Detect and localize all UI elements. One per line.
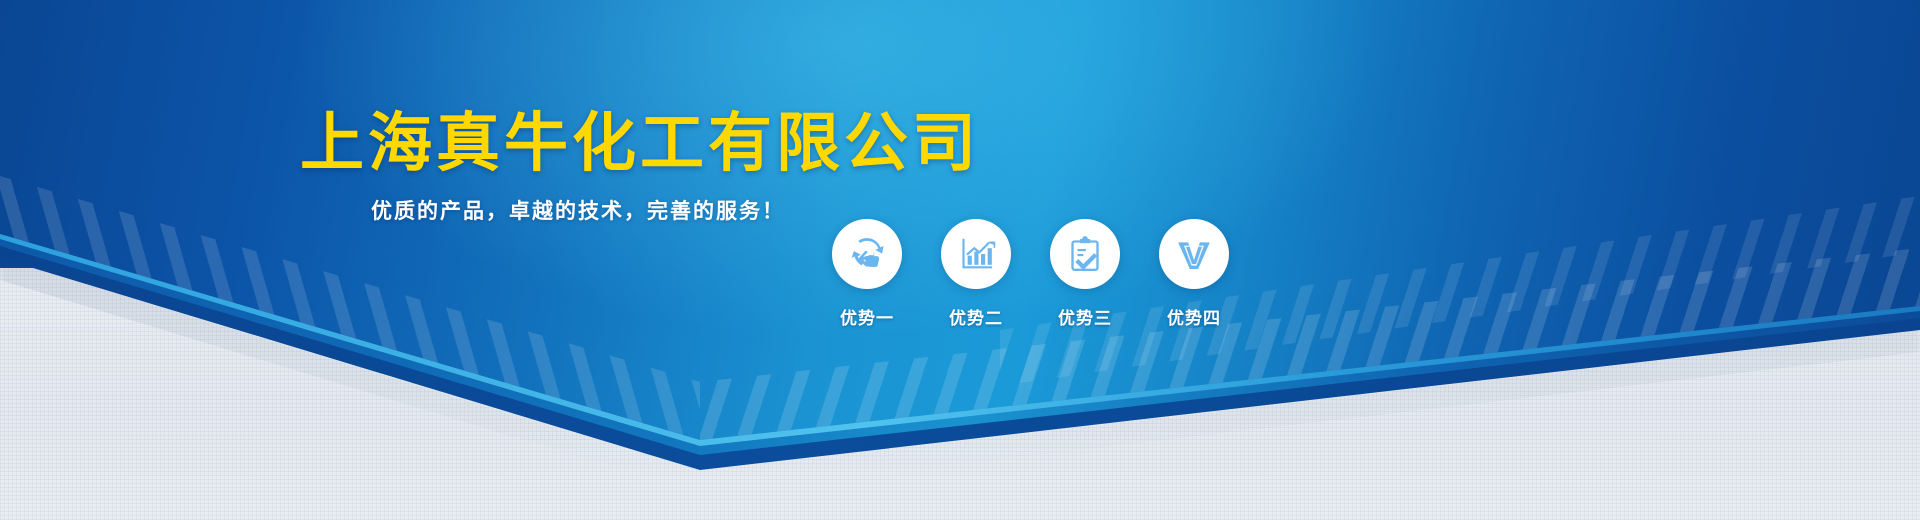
feature-label-2: 优势二: [949, 304, 1003, 329]
refresh-thumbs-up-icon: [847, 234, 887, 274]
letter-v-icon: [1174, 234, 1214, 274]
feature-icon-circle-2[interactable]: [941, 219, 1011, 289]
feature-list: 优势一: [832, 219, 1229, 329]
feature-label-3: 优势三: [1058, 304, 1112, 329]
company-slogan: 优质的产品，卓越的技术，完善的服务！: [371, 195, 785, 225]
feature-item-4[interactable]: 优势四: [1159, 219, 1229, 329]
feature-label-1: 优势一: [840, 304, 894, 329]
feature-icon-circle-1[interactable]: [832, 219, 902, 289]
feature-item-3[interactable]: 优势三: [1050, 219, 1120, 329]
feature-icon-circle-4[interactable]: [1159, 219, 1229, 289]
company-title: 上海真牛化工有限公司: [300, 92, 980, 184]
bar-chart-growth-icon: [956, 234, 996, 274]
feature-icon-circle-3[interactable]: [1050, 219, 1120, 289]
company-hero-banner: 上海真牛化工有限公司 优质的产品，卓越的技术，完善的服务！ 优势一: [0, 0, 1920, 520]
feature-item-2[interactable]: 优势二: [941, 219, 1011, 329]
feature-item-1[interactable]: 优势一: [832, 219, 902, 329]
feature-label-4: 优势四: [1167, 304, 1221, 329]
clipboard-check-icon: [1065, 234, 1105, 274]
